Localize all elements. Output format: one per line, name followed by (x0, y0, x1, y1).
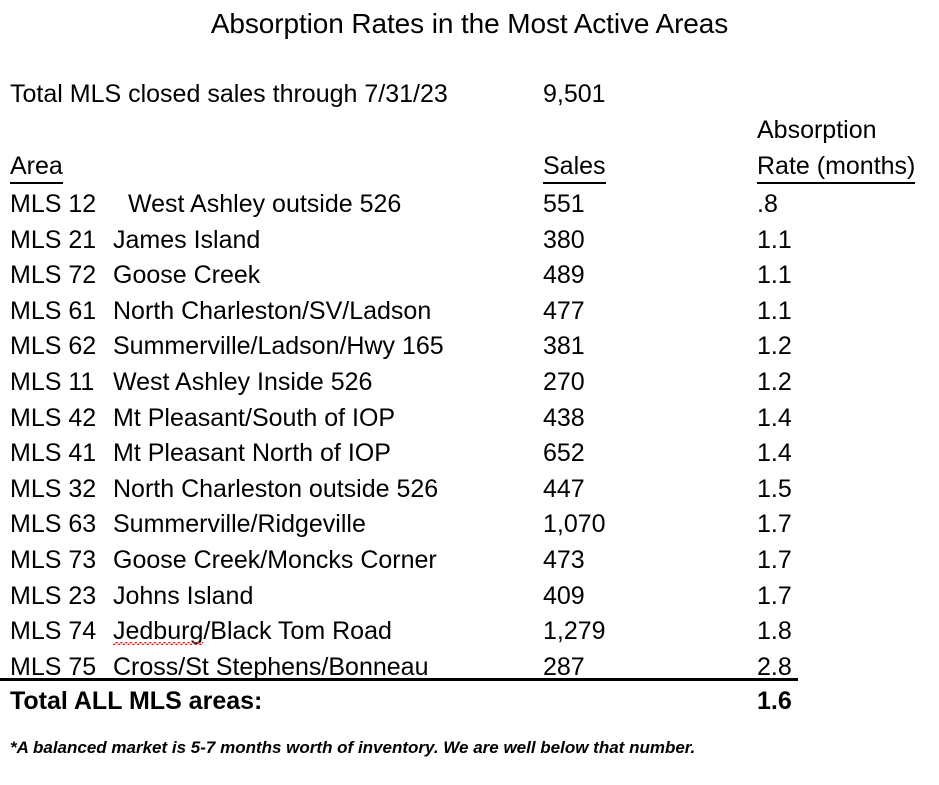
cell-area-name: Mt Pleasant/South of IOP (113, 404, 395, 433)
table-row: MLS 12West Ashley outside 526551.8 (0, 190, 939, 226)
column-header-absorption: Absorption (757, 116, 877, 145)
cell-mls-code: MLS 74 (10, 617, 96, 646)
table-row: MLS 72Goose Creek4891.1 (0, 261, 939, 297)
cell-absorption-rate: 1.1 (757, 226, 792, 255)
table-row: MLS 11West Ashley Inside 5262701.2 (0, 368, 939, 404)
cell-sales-count: 473 (543, 546, 585, 575)
cell-area-name: North Charleston outside 526 (113, 475, 438, 504)
cell-mls-code: MLS 23 (10, 582, 96, 611)
cell-area-name: Goose Creek (113, 261, 260, 290)
cell-area-name: West Ashley outside 526 (128, 190, 401, 219)
cell-sales-count: 380 (543, 226, 585, 255)
table-row: MLS 62Summerville/Ladson/Hwy 1653811.2 (0, 332, 939, 368)
cell-absorption-rate: 1.7 (757, 546, 792, 575)
cell-area-name: James Island (113, 226, 260, 255)
cell-absorption-rate: .8 (757, 190, 778, 219)
cell-sales-count: 1,279 (543, 617, 606, 646)
cell-absorption-rate: 1.7 (757, 510, 792, 539)
cell-mls-code: MLS 42 (10, 404, 96, 433)
cell-sales-count: 477 (543, 297, 585, 326)
cell-area-name: Goose Creek/Moncks Corner (113, 546, 437, 575)
column-header-sales: Sales (543, 152, 606, 184)
misspelled-word: Jedburg (113, 617, 203, 646)
cell-mls-code: MLS 62 (10, 332, 96, 361)
cell-mls-code: MLS 73 (10, 546, 96, 575)
column-header-area: Area (10, 152, 63, 184)
cell-absorption-rate: 1.5 (757, 475, 792, 504)
cell-sales-count: 1,070 (543, 510, 606, 539)
column-header-absorption-rate: Rate (months) (757, 152, 915, 184)
cell-absorption-rate: 1.8 (757, 617, 792, 646)
cell-mls-code: MLS 12 (10, 190, 96, 219)
total-all-mls-rate: 1.6 (757, 687, 792, 716)
cell-sales-count: 409 (543, 582, 585, 611)
table-row: MLS 23Johns Island4091.7 (0, 582, 939, 618)
cell-absorption-rate: 1.2 (757, 332, 792, 361)
cell-absorption-rate: 1.4 (757, 439, 792, 468)
cell-area-name-rest: /Black Tom Road (203, 617, 392, 645)
summary-row: Total MLS closed sales through 7/31/23 9… (10, 80, 930, 110)
table-row: MLS 21James Island3801.1 (0, 226, 939, 262)
cell-sales-count: 489 (543, 261, 585, 290)
cell-mls-code: MLS 32 (10, 475, 96, 504)
footnote: *A balanced market is 5-7 months worth o… (10, 738, 695, 758)
cell-absorption-rate: 1.2 (757, 368, 792, 397)
total-closed-sales-label: Total MLS closed sales through 7/31/23 (10, 80, 448, 109)
cell-absorption-rate: 1.1 (757, 297, 792, 326)
total-closed-sales-value: 9,501 (543, 80, 606, 109)
table-row: MLS 42Mt Pleasant/South of IOP4381.4 (0, 404, 939, 440)
cell-area-name: Summerville/Ridgeville (113, 510, 366, 539)
cell-mls-code: MLS 11 (10, 368, 94, 397)
cell-absorption-rate: 1.4 (757, 404, 792, 433)
total-all-mls-label: Total ALL MLS areas: (10, 687, 262, 716)
cell-mls-code: MLS 72 (10, 261, 96, 290)
cell-area-name: North Charleston/SV/Ladson (113, 297, 431, 326)
cell-sales-count: 381 (543, 332, 585, 361)
total-divider-rule (0, 678, 798, 681)
page-title: Absorption Rates in the Most Active Area… (0, 8, 939, 40)
cell-mls-code: MLS 41 (10, 439, 96, 468)
cell-mls-code: MLS 63 (10, 510, 96, 539)
cell-area-name: Summerville/Ladson/Hwy 165 (113, 332, 444, 361)
table-row: MLS 32North Charleston outside 5264471.5 (0, 475, 939, 511)
cell-sales-count: 270 (543, 368, 585, 397)
table-row: MLS 75Cross/St Stephens/Bonneau2872.8 (0, 653, 939, 689)
cell-area-name: Johns Island (113, 582, 253, 611)
cell-area-name: West Ashley Inside 526 (113, 368, 372, 397)
table-row: MLS 63Summerville/Ridgeville1,0701.7 (0, 510, 939, 546)
cell-mls-code: MLS 21 (10, 226, 96, 255)
cell-absorption-rate: 1.1 (757, 261, 792, 290)
cell-mls-code: MLS 61 (10, 297, 96, 326)
cell-sales-count: 447 (543, 475, 585, 504)
cell-sales-count: 438 (543, 404, 585, 433)
table-row: MLS 41Mt Pleasant North of IOP6521.4 (0, 439, 939, 475)
table-row: MLS 74Jedburg/Black Tom Road1,2791.8 (0, 617, 939, 653)
cell-sales-count: 652 (543, 439, 585, 468)
table-row: MLS 73Goose Creek/Moncks Corner4731.7 (0, 546, 939, 582)
cell-area-name: Mt Pleasant North of IOP (113, 439, 391, 468)
cell-absorption-rate: 1.7 (757, 582, 792, 611)
cell-area-name: Jedburg/Black Tom Road (113, 617, 392, 646)
table-body: MLS 12West Ashley outside 526551.8MLS 21… (0, 190, 939, 688)
cell-sales-count: 551 (543, 190, 585, 219)
table-row: MLS 61North Charleston/SV/Ladson4771.1 (0, 297, 939, 333)
